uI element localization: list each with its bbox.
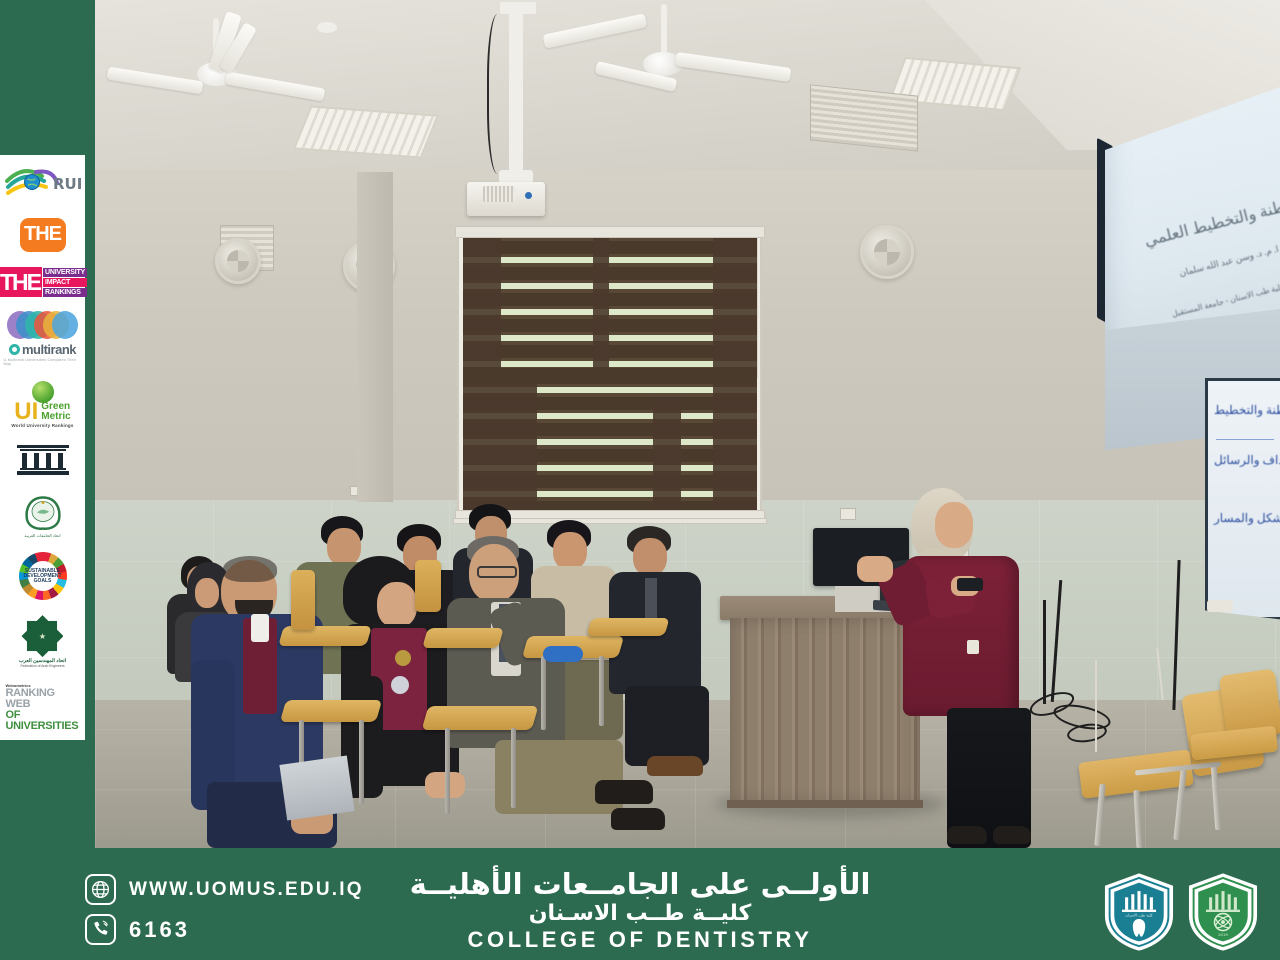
ranking-logo-rur[interactable]: RUR xyxy=(4,161,82,203)
blind-pull-cord xyxy=(757,238,758,378)
webometrics-line-2: OF UNIVERSITIES xyxy=(6,710,80,732)
exhaust-fan-right xyxy=(860,225,914,279)
eyeglasses xyxy=(477,566,517,578)
subline-english: COLLEGE OF DENTISTRY xyxy=(0,927,1280,953)
university-of-almustaqbal-shield-logo[interactable]: 2019 xyxy=(1184,871,1262,953)
blind-mid-band xyxy=(463,368,757,384)
svg-text:RUR: RUR xyxy=(53,175,81,193)
svg-text:2019: 2019 xyxy=(1218,932,1228,937)
the-logo-box: THE xyxy=(20,218,66,252)
university-rankings-sidebar: RUR THE THE UNIVERSITY IMPACT RANKINGS xyxy=(0,155,85,740)
whiteboard-line-1: المواطنة والتخطيط xyxy=(1214,403,1280,418)
institution-logos: كلية طب الاسنان 2019 xyxy=(1100,871,1262,953)
bottom-info-banner: WWW.UOMUS.EDU.IQ 6163 الأولــى على الجام… xyxy=(0,862,1280,960)
brooch xyxy=(395,650,411,666)
wall-cable-drop-1 xyxy=(1043,600,1046,704)
blue-item-on-desk xyxy=(543,646,583,662)
banner-headline-block: الأولــى على الجامــعات الأهليــة كليــة… xyxy=(0,868,1280,953)
ranking-logo-federation-arab-engineers[interactable]: ★ اتحاد المهندسين العرب Federation of Ar… xyxy=(4,615,82,668)
shirt-collar xyxy=(251,614,269,642)
projector-power-cable xyxy=(487,14,513,174)
blind-panel-seam-lower-left xyxy=(501,378,537,514)
multirank-tagline: U-Multirank Universities Compared Their … xyxy=(4,358,82,366)
federation-arab-engineers-star-icon: ★ xyxy=(21,615,63,657)
classical-columns-icon xyxy=(17,443,69,477)
white-cable-drop xyxy=(1095,660,1097,752)
presenter-shoe-right xyxy=(993,826,1031,844)
wall-pilaster xyxy=(357,172,393,502)
greenmetric-word-metric: Metric xyxy=(41,412,70,422)
presenter-badge xyxy=(967,640,979,654)
greenmetric-ui-mark: UI xyxy=(14,401,38,423)
ranking-logo-arab-universities[interactable]: اتحاد الجامعات العربية xyxy=(4,492,82,538)
presenter-face xyxy=(935,502,973,548)
ranking-logo-the[interactable]: THE xyxy=(4,218,82,252)
multirank-discs-icon xyxy=(7,311,79,341)
ranking-logo-ui-greenmetric[interactable]: UI Green Metric World University Ranking… xyxy=(4,381,82,428)
blind-panel-seam-lower-right xyxy=(653,398,681,514)
whiteboard: المواطنة والتخطيط والاهداف والرسائل والش… xyxy=(1205,378,1280,620)
wall-socket-center[interactable] xyxy=(840,508,856,520)
the-impact-line-2: IMPACT xyxy=(43,278,87,287)
greenmetric-tagline: World University Rankings xyxy=(11,423,73,428)
presenter-shoe-left xyxy=(947,826,987,844)
classroom-lecture-photo: المواطنة والتخطيط العلمي ا. م. د. وسن عب… xyxy=(95,0,1280,848)
arab-universities-wreath-icon xyxy=(19,492,67,532)
arab-universities-label: اتحاد الجامعات العربية xyxy=(24,533,60,538)
booklet-on-lap xyxy=(279,756,354,821)
svg-text:كلية طب الاسنان: كلية طب الاسنان xyxy=(1125,913,1153,918)
whiteboard-marker-tray xyxy=(1207,600,1233,612)
exhaust-fan-left xyxy=(215,238,261,284)
whiteboard-line-3: والشكل والمسار xyxy=(1214,511,1280,526)
ceiling-light-panel-left xyxy=(293,105,439,158)
college-of-dentistry-shield-logo[interactable]: كلية طب الاسنان xyxy=(1100,871,1178,953)
subline-arabic: كليــة طــب الاسـنان xyxy=(0,901,1280,927)
headline-arabic: الأولــى على الجامــعات الأهليــة xyxy=(0,868,1280,901)
sdg-wheel-icon: SUSTAINABLE DEVELOPMENT GOALS xyxy=(19,552,67,600)
ceiling-vent-right xyxy=(810,84,918,151)
sdg-label: SUSTAINABLE DEVELOPMENT GOALS xyxy=(19,569,67,584)
projector-lens xyxy=(525,192,532,199)
the-impact-the-mark: THE xyxy=(0,267,42,297)
necktie xyxy=(645,578,657,618)
presenter-mobile-phone xyxy=(957,578,983,591)
ceiling-fan-mount-left xyxy=(317,22,337,33)
multirank-wordmark: multirank xyxy=(22,342,76,357)
the-impact-line-1: UNIVERSITY xyxy=(43,268,87,277)
teacher-desk-body xyxy=(730,618,920,804)
the-impact-line-3: RANKINGS xyxy=(43,288,87,297)
presenter-left-hand xyxy=(857,556,893,582)
ranking-logo-columns[interactable] xyxy=(4,443,82,477)
rur-eye-icon: RUR xyxy=(5,161,81,203)
slide-title: المواطنة والتخطيط العلمي xyxy=(1135,187,1280,252)
ranking-logo-sdg[interactable]: SUSTAINABLE DEVELOPMENT GOALS xyxy=(4,552,82,600)
pendant xyxy=(391,676,409,694)
whiteboard-line-2: والاهداف والرسائل xyxy=(1214,453,1280,468)
teacher-desk-base xyxy=(727,800,923,808)
ranking-logo-the-impact[interactable]: THE UNIVERSITY IMPACT RANKINGS xyxy=(4,267,82,297)
multirank-o-icon xyxy=(9,344,20,355)
ranking-logo-multirank[interactable]: multirank U-Multirank Universities Compa… xyxy=(4,311,82,366)
blind-panel-seam-upper xyxy=(593,238,609,372)
federation-label-en: Federation of Arab Engineers xyxy=(20,664,64,668)
blind-head-rail xyxy=(455,226,765,238)
projector-vent xyxy=(483,186,515,202)
ranking-logo-webometrics[interactable]: Webometrics RANKING WEB OF UNIVERSITIES xyxy=(4,683,82,732)
webometrics-line-1: RANKING WEB xyxy=(6,688,80,710)
